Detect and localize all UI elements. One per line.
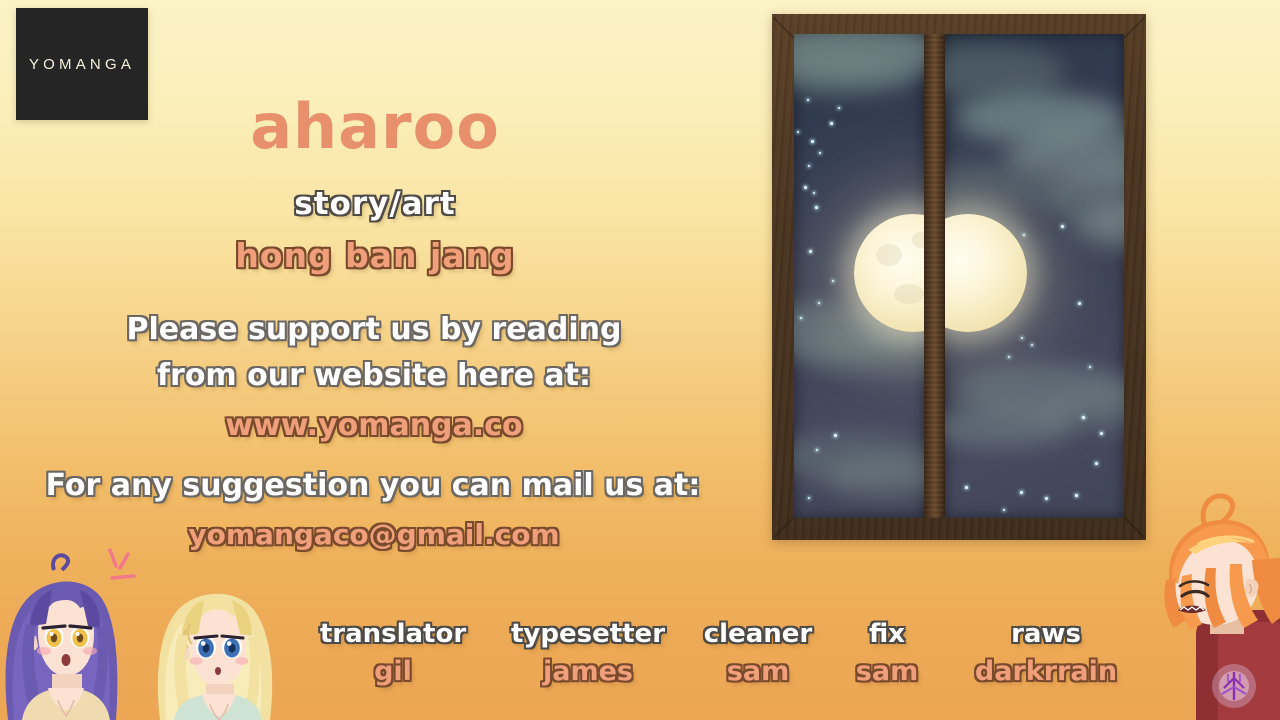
cloud (945, 44, 1065, 100)
star (815, 206, 818, 209)
moon-crater (876, 244, 902, 266)
credit-name-value: sam (828, 654, 946, 689)
window-pane-right (945, 34, 1124, 518)
cloud (794, 434, 924, 480)
credit-column-cleaner: cleaner sam (688, 620, 828, 689)
credit-column-typesetter: typesetter james (488, 620, 688, 689)
cloud (1005, 130, 1124, 184)
credit-role-label: cleaner (688, 620, 828, 650)
cloud (955, 364, 1124, 418)
cloud (945, 164, 1065, 212)
credit-name-value: james (488, 654, 688, 689)
cloud (1045, 168, 1124, 224)
star (1075, 494, 1078, 497)
star (1095, 462, 1098, 465)
author-name: hong ban jang (0, 236, 740, 275)
moon-crater (912, 232, 924, 248)
star (800, 317, 802, 319)
moon-crater (894, 284, 924, 304)
credit-name-value: sam (688, 654, 828, 689)
star (807, 99, 809, 101)
night-window-illustration (772, 14, 1146, 540)
glowing-emblem-icon (1212, 664, 1256, 708)
star (830, 122, 833, 125)
series-title: aharoo (0, 96, 740, 158)
star (818, 302, 820, 304)
credit-role-label: translator (298, 620, 488, 650)
surprise-marks-icon (104, 546, 154, 590)
star (1020, 491, 1023, 494)
star (834, 434, 837, 437)
star (1100, 432, 1103, 435)
credit-column-raws: raws darkrrain (946, 620, 1146, 689)
website-url[interactable]: www.yomanga.co (0, 408, 740, 443)
support-line-2: from our website here at: (0, 358, 740, 393)
cloud (1035, 386, 1124, 430)
cloud (1075, 204, 1124, 250)
window-pane-left (794, 34, 924, 518)
credit-column-fix: fix sam (828, 620, 946, 689)
window-mullion (924, 34, 945, 518)
story-art-label: story/art (0, 186, 740, 222)
star (1031, 344, 1033, 346)
cloud (804, 326, 924, 376)
credits-row: translator gil typesetter james cleaner … (298, 620, 1174, 716)
star (1008, 356, 1010, 358)
star (797, 131, 799, 133)
cloud (824, 458, 924, 498)
moon (854, 214, 924, 332)
star (1061, 225, 1064, 228)
star (813, 192, 815, 194)
star (811, 140, 814, 143)
star (816, 449, 818, 451)
star (838, 107, 840, 109)
star (1023, 234, 1025, 236)
star (819, 152, 821, 154)
star (808, 165, 810, 167)
support-line-3: For any suggestion you can mail us at: (0, 468, 740, 503)
star (808, 497, 810, 499)
star (1021, 337, 1023, 339)
star (804, 186, 807, 189)
star (1089, 366, 1091, 368)
credit-name-value: darkrrain (946, 654, 1146, 689)
star (1082, 416, 1085, 419)
moon-right-half (945, 214, 1027, 332)
star (1045, 497, 1048, 500)
cloud (794, 34, 924, 82)
cloud (945, 406, 1075, 448)
credit-role-label: typesetter (488, 620, 688, 650)
character-blonde-girl (150, 572, 300, 720)
star (1078, 302, 1081, 305)
credit-role-label: raws (946, 620, 1146, 650)
credit-role-label: fix (828, 620, 946, 650)
character-orange-haired-boy (1148, 488, 1280, 720)
cloud (955, 92, 1124, 144)
star (1003, 509, 1005, 511)
star (832, 280, 834, 282)
cloud (794, 52, 918, 96)
support-line-1: Please support us by reading (0, 312, 740, 347)
star (965, 486, 968, 489)
credit-column-translator: translator gil (298, 620, 488, 689)
star (809, 250, 812, 253)
window-glass-area (794, 34, 1124, 518)
credit-name-value: gil (298, 654, 488, 689)
